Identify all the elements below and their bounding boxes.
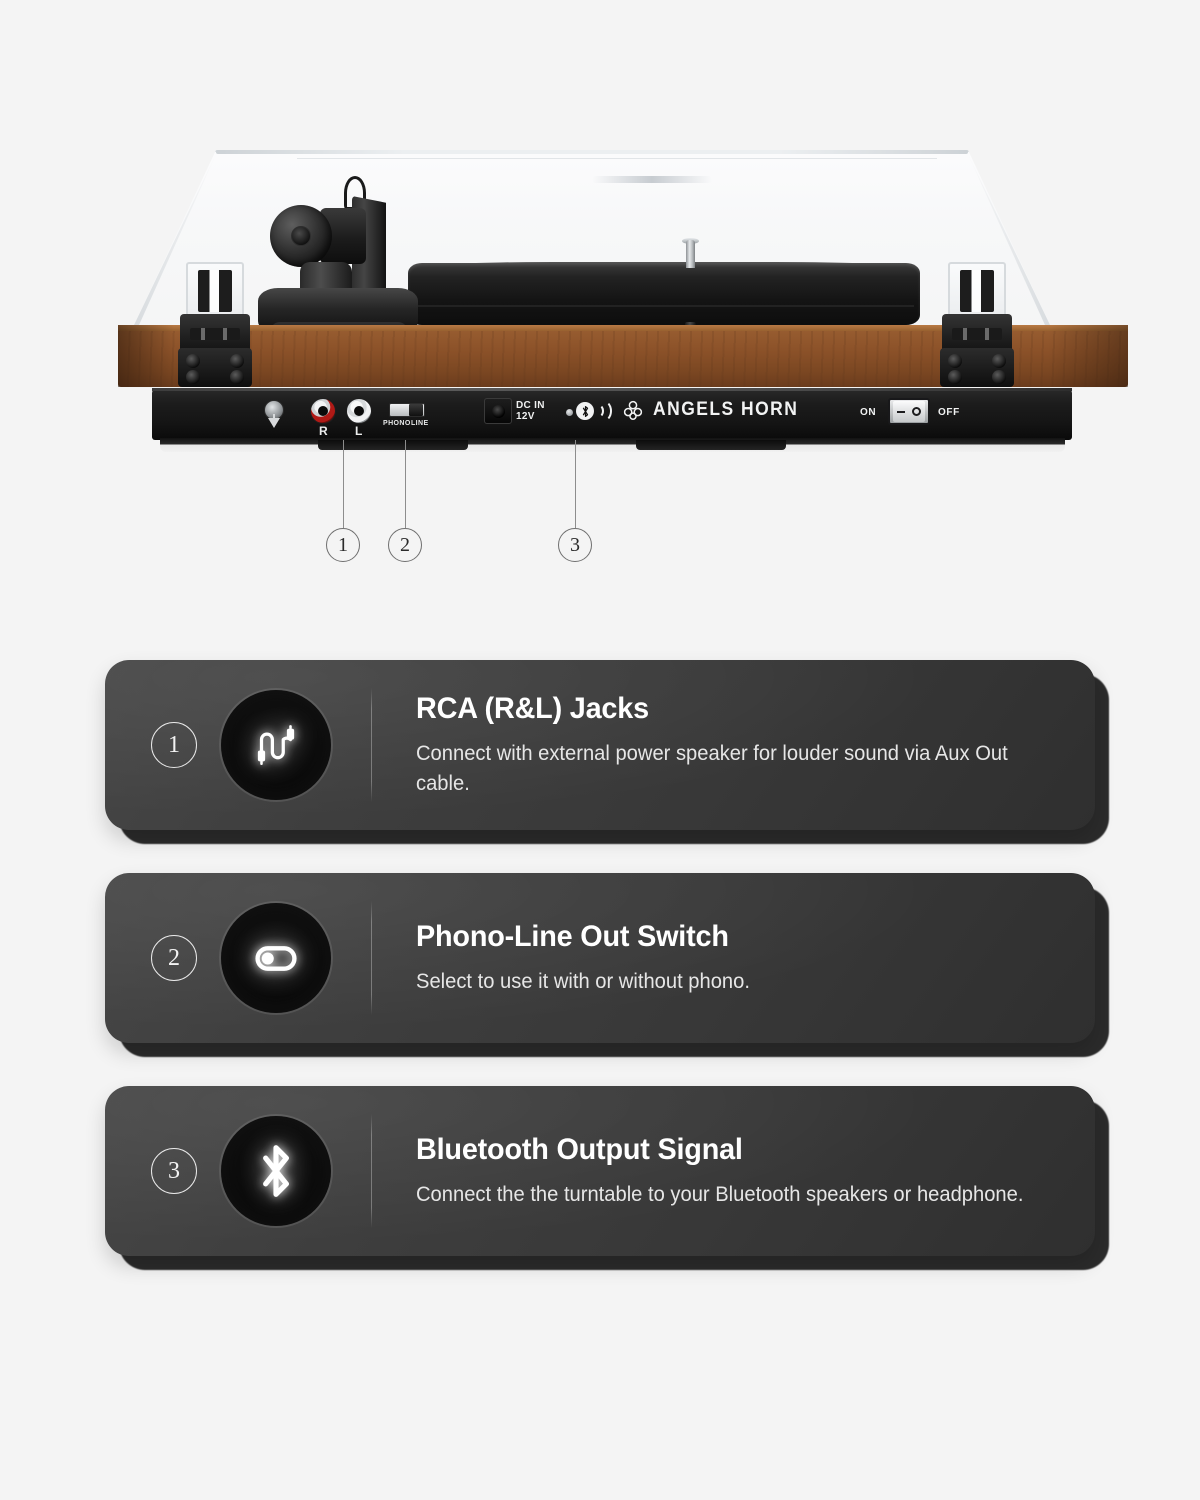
rca-jack-left-hole xyxy=(354,406,364,416)
feature-card-phono-line-switch[interactable]: 2 Phono-Line Out Switch Select to use it… xyxy=(105,873,1095,1043)
phono-label: PHONO xyxy=(383,420,411,427)
power-on-symbol-icon xyxy=(897,411,905,413)
power-off-label: OFF xyxy=(938,407,960,418)
feature-text-1: RCA (R&L) Jacks Connect with external po… xyxy=(416,691,1065,799)
bluetooth-wave-icon xyxy=(594,400,612,422)
power-on-label: ON xyxy=(860,407,876,418)
hinge-screw xyxy=(948,354,962,368)
feature-icon-badge-1 xyxy=(221,690,331,800)
callout-leader-line-3 xyxy=(575,440,576,528)
feature-title-2: Phono-Line Out Switch xyxy=(416,919,1029,955)
brand-name: ANGELS HORN xyxy=(653,399,798,421)
hinge-screw xyxy=(948,370,962,384)
callout-leader-line-2 xyxy=(405,440,406,528)
brand-logo: ANGELS HORN xyxy=(622,399,811,421)
hinge-block-slot-right xyxy=(952,328,1002,340)
feature-description-2: Select to use it with or without phono. xyxy=(416,967,1029,997)
turntable-foot xyxy=(636,440,786,450)
feature-text-3: Bluetooth Output Signal Connect the the … xyxy=(416,1132,1065,1210)
rca-right-label: R xyxy=(319,424,328,438)
feature-card-wrapper-3: 3 Bluetooth Output Signal Connect the th… xyxy=(105,1086,1095,1256)
hinge-screw xyxy=(186,370,200,384)
feature-number-1: 1 xyxy=(151,722,197,768)
photo-callout-3: 3 xyxy=(558,528,592,562)
bluetooth-icon xyxy=(254,1140,298,1202)
hinge-screw xyxy=(186,354,200,368)
turntable-product-photo: R L PHONO LINE DC IN12V xyxy=(0,0,1200,600)
platter xyxy=(408,263,920,325)
feature-number-2: 2 xyxy=(151,935,197,981)
toggle-switch-icon xyxy=(245,927,307,989)
feature-card-rca-jacks[interactable]: 1 RCA xyxy=(105,660,1095,830)
rca-cable-icon xyxy=(247,716,305,774)
hinge-screw xyxy=(992,370,1006,384)
feature-card-wrapper-2: 2 Phono-Line Out Switch Select to use it… xyxy=(105,873,1095,1043)
rear-control-panel xyxy=(152,388,1072,440)
photo-callout-2: 2 xyxy=(388,528,422,562)
bluetooth-led-indicator xyxy=(566,409,573,416)
callout-leader-line-1 xyxy=(343,440,344,528)
power-rocker-inner[interactable] xyxy=(893,401,925,422)
product-infographic-page: R L PHONO LINE DC IN12V xyxy=(0,0,1200,1500)
rca-jack-right-hole xyxy=(318,406,328,416)
feature-number-3: 3 xyxy=(151,1148,197,1194)
dc-in-label: DC IN12V xyxy=(516,400,545,422)
hinge-screw xyxy=(230,370,244,384)
feature-icon-badge-3 xyxy=(221,1116,331,1226)
rear-panel-base xyxy=(160,438,1065,452)
photo-callout-1: 1 xyxy=(326,528,360,562)
hinge-block-slot-left xyxy=(190,328,240,340)
dust-cover-highlight xyxy=(592,176,712,183)
counterweight-hub xyxy=(291,226,311,246)
feature-description-3: Connect the the turntable to your Blueto… xyxy=(416,1180,1029,1210)
wood-plinth-left-shading xyxy=(118,325,174,387)
phono-line-switch-knob[interactable] xyxy=(409,404,423,416)
feature-card-wrapper-1: 1 RCA xyxy=(105,660,1095,830)
rca-left-label: L xyxy=(355,424,363,438)
feature-cards-list: 1 RCA xyxy=(0,660,1200,1299)
card-divider xyxy=(371,688,372,802)
hinge-screw xyxy=(230,354,244,368)
feature-card-bluetooth-output[interactable]: 3 Bluetooth Output Signal Connect the th… xyxy=(105,1086,1095,1256)
feature-icon-badge-2 xyxy=(221,903,331,1013)
platter-groove xyxy=(414,305,914,307)
hinge-slot-right xyxy=(960,270,994,312)
brand-emblem-icon xyxy=(622,399,644,421)
feature-title-1: RCA (R&L) Jacks xyxy=(416,691,1029,727)
turntable-foot xyxy=(318,440,468,450)
wood-plinth-right-shading xyxy=(1048,325,1128,387)
card-divider xyxy=(371,1114,372,1228)
hinge-screw xyxy=(992,354,1006,368)
feature-title-3: Bluetooth Output Signal xyxy=(416,1132,1029,1168)
feature-text-2: Phono-Line Out Switch Select to use it w… xyxy=(416,919,1065,997)
dust-cover-top-edge xyxy=(216,150,968,154)
line-label: LINE xyxy=(411,420,429,427)
dc-power-jack-hole xyxy=(492,405,505,418)
rear-panel-highlight xyxy=(152,388,1072,391)
hinge-slot-left xyxy=(198,270,232,312)
spindle xyxy=(686,240,695,268)
power-off-symbol-icon xyxy=(912,407,921,416)
card-divider xyxy=(371,901,372,1015)
feature-description-1: Connect with external power speaker for … xyxy=(416,739,1029,799)
dust-cover-seam xyxy=(297,158,937,159)
